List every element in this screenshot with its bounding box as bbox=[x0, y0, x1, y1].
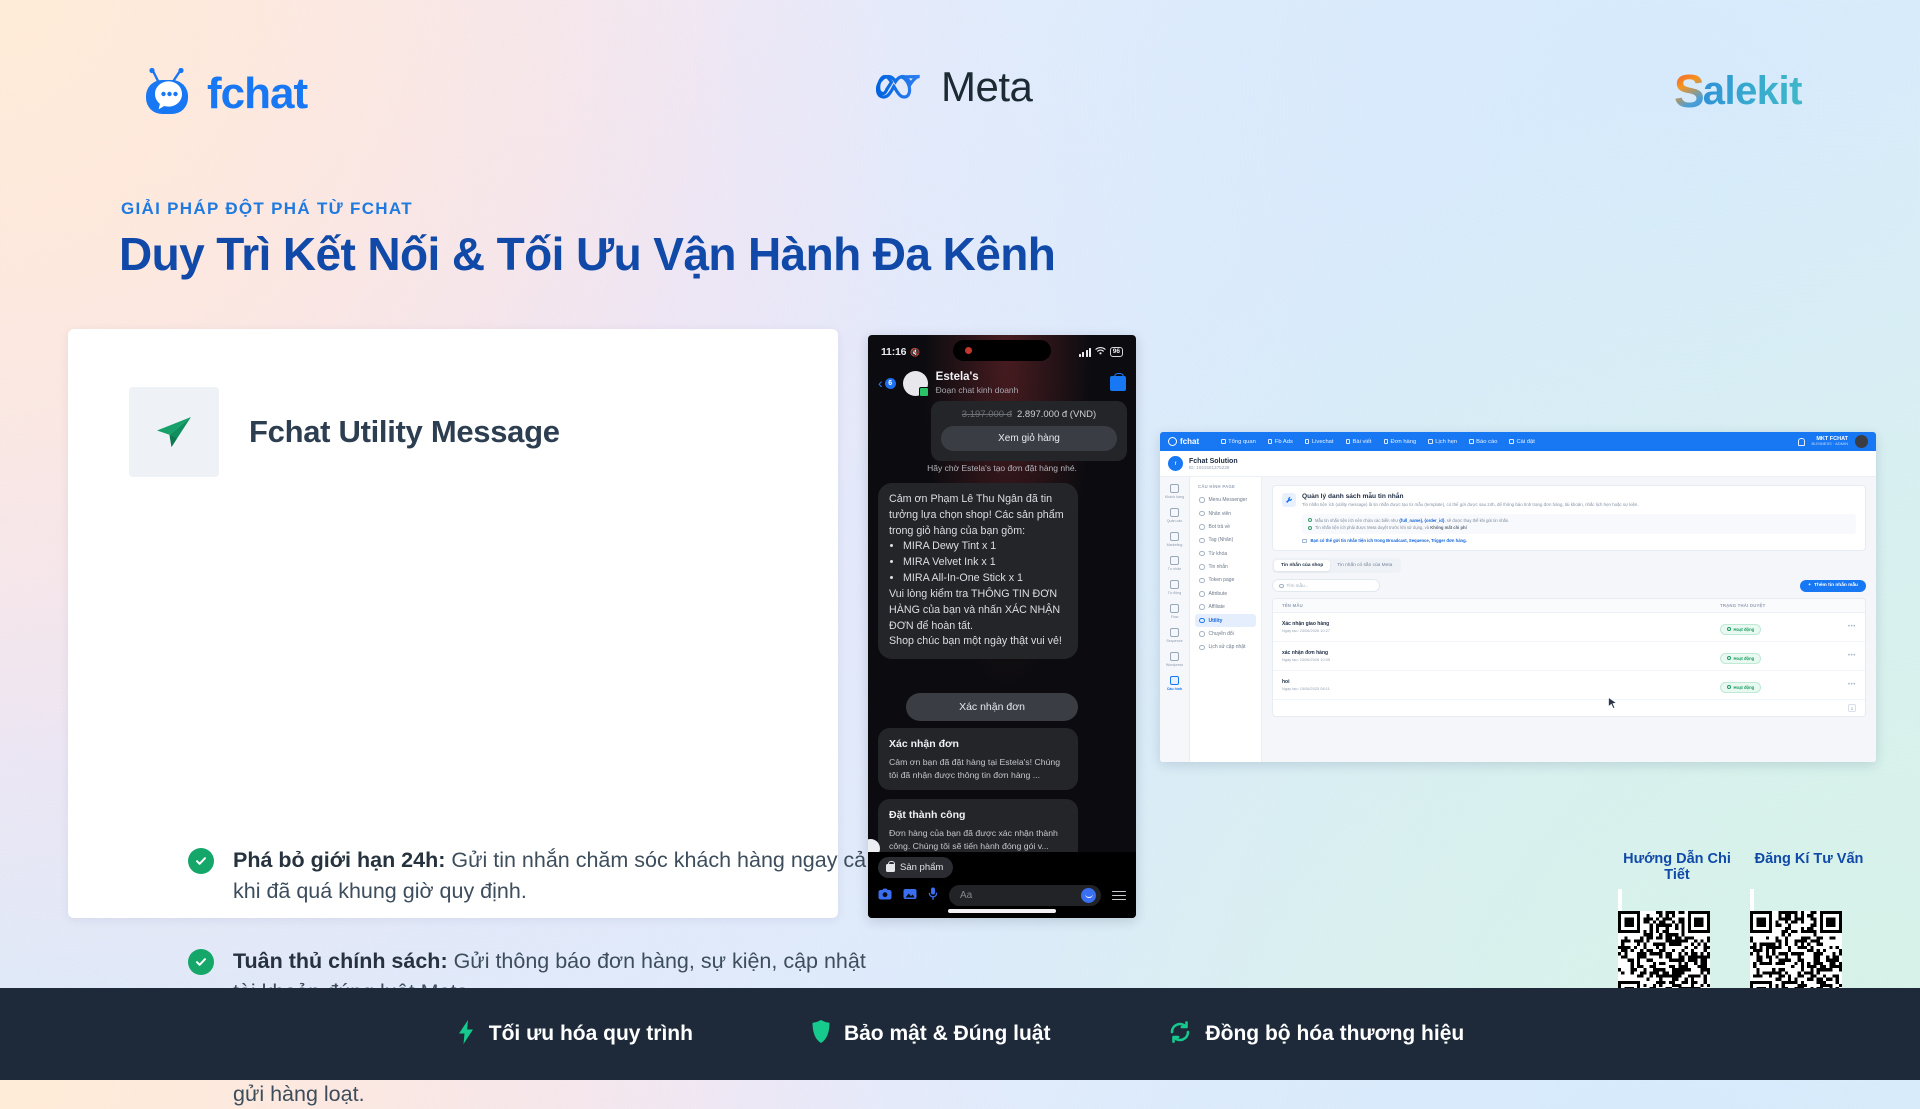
table-row[interactable]: hoi Ngày tạo: 15/06/2025 08:11 Hoạt động… bbox=[1273, 671, 1865, 700]
nav-item-tong-quan[interactable]: Tổng quan bbox=[1221, 439, 1256, 445]
page-avatar: f bbox=[1168, 456, 1183, 471]
phone-mockup: 11:16 🔇 96 ‹ 6 Estela's Đoạn chat kinh d… bbox=[868, 335, 1136, 918]
input-placeholder: Aa bbox=[960, 890, 972, 901]
nav-item-livechat[interactable]: Livechat bbox=[1305, 439, 1334, 445]
sidebar-item-bot-tra-ve[interactable]: Bot trả về bbox=[1195, 521, 1256, 533]
template-cell: xác nhận đơn hàng Ngày tạo: 23/06/2026 1… bbox=[1282, 650, 1720, 662]
rail-item-quang-cao[interactable]: Quản cáo bbox=[1160, 508, 1189, 523]
wrench-icon bbox=[1282, 493, 1296, 507]
emoji-icon[interactable] bbox=[1081, 888, 1096, 903]
nav-item-bao-cao[interactable]: Báo cáo bbox=[1469, 439, 1497, 445]
row-menu-icon[interactable]: ••• bbox=[1830, 653, 1856, 659]
card-title: Fchat Utility Message bbox=[249, 414, 560, 450]
search-input[interactable]: Tìm mẫu... bbox=[1272, 579, 1380, 592]
cart-summary-card: 3.197.000 đ2.897.000 đ (VND) Xem giỏ hàn… bbox=[931, 401, 1127, 461]
fchat-robot-icon bbox=[1168, 437, 1177, 446]
sync-icon bbox=[1168, 1020, 1192, 1049]
account-info[interactable]: MKT FCHAT BUSINESS · ADMIN bbox=[1812, 436, 1848, 447]
note-emphasis: Không mất chi phí bbox=[1430, 525, 1467, 530]
gear-icon bbox=[1170, 676, 1179, 685]
footer-item-security: Bảo mật & Đúng luật bbox=[811, 1019, 1051, 1049]
feature-card: Fchat Utility Message Phá bỏ giới hạn 24… bbox=[68, 329, 838, 918]
qr-label-dang-ki: Đăng Kí Tư Vấn bbox=[1750, 851, 1868, 883]
check-circle-icon bbox=[188, 949, 214, 975]
app-top-nav: fchat Tổng quan Fb Ads Livechat Bài viết… bbox=[1160, 432, 1876, 451]
app-sidebar: CẤU HÌNH PAGE Menu Messenger Nhân viên B… bbox=[1190, 477, 1262, 762]
sidebar-item-lich-su-cap-nhat[interactable]: Lịch sử cập nhật bbox=[1195, 641, 1256, 653]
flow-icon bbox=[1170, 604, 1179, 613]
row-menu-icon[interactable]: ••• bbox=[1830, 682, 1856, 688]
note-approval: Tin nhắn tiện ích phải được Meta duyệt t… bbox=[1308, 525, 1850, 530]
meta-wordmark: Meta bbox=[941, 66, 1032, 108]
check-icon bbox=[1308, 526, 1312, 530]
nav-item-fb-ads[interactable]: Fb Ads bbox=[1268, 439, 1293, 445]
list-icon bbox=[1170, 628, 1179, 637]
column-header-ten-mau: TÊN MẪU bbox=[1282, 603, 1720, 608]
cart-price-current: 2.897.000 đ (VND) bbox=[1017, 409, 1096, 420]
search-placeholder: Tìm mẫu... bbox=[1287, 583, 1309, 588]
product-pill-button[interactable]: Sản phẩm bbox=[878, 857, 953, 878]
list-item: MIRA Dewy Tint x 1 bbox=[903, 539, 1067, 555]
app-account-area: MKT FCHAT BUSINESS · ADMIN bbox=[1798, 435, 1868, 448]
camera-dot-icon bbox=[965, 347, 972, 354]
meta-infinity-icon bbox=[876, 69, 928, 106]
footer-label: Đồng bộ hóa thương hiệu bbox=[1205, 1022, 1464, 1046]
menu-icon bbox=[1199, 497, 1205, 503]
panel-description: Tin nhắn tiện ích (utility message) là t… bbox=[1302, 502, 1639, 509]
signal-icon bbox=[1079, 348, 1091, 357]
rail-item-wordpress[interactable]: Wordpress bbox=[1160, 652, 1189, 667]
status-cell: Hoạt động bbox=[1720, 676, 1830, 694]
info-icon bbox=[1308, 518, 1312, 522]
card-header: Fchat Utility Message bbox=[129, 387, 560, 477]
confirm-order-button[interactable]: Xác nhận đơn bbox=[906, 693, 1078, 721]
content-tabs: Tin nhắn của shop Tin nhắn có sẵn của Me… bbox=[1272, 558, 1401, 573]
robot-icon bbox=[1170, 580, 1179, 589]
app-body: Khách hàng Quản cáo Marketing Tư nhân Tự… bbox=[1160, 477, 1876, 762]
cart-price-old: 3.197.000 đ bbox=[962, 409, 1012, 420]
hero-kicker: GIẢI PHÁP ĐỘT PHÁ TỪ FCHAT bbox=[121, 199, 413, 219]
add-template-button[interactable]: + Thêm tin nhắn mẫu bbox=[1800, 580, 1866, 592]
footer-label: Bảo mật & Đúng luật bbox=[844, 1022, 1051, 1046]
lightning-icon bbox=[456, 1019, 476, 1050]
plus-icon: + bbox=[1808, 583, 1811, 588]
attribute-icon bbox=[1199, 591, 1205, 597]
sidebar-item-token-page[interactable]: Token page bbox=[1195, 574, 1256, 586]
list-item: Phá bỏ giới hạn 24h: Gửi tin nhắn chăm s… bbox=[188, 845, 888, 906]
salekit-wordmark: alekit bbox=[1703, 71, 1802, 111]
template-date: Ngày tạo: 23/06/2026 10:05 bbox=[1282, 657, 1720, 662]
back-icon[interactable]: ‹ bbox=[878, 376, 883, 390]
battery-level: 96 bbox=[1110, 347, 1123, 357]
sidebar-item-affiliate[interactable]: Affiliate bbox=[1195, 601, 1256, 613]
footer-item-optimize: Tối ưu hóa quy trình bbox=[456, 1019, 693, 1050]
fchat-logo: fchat bbox=[142, 68, 307, 120]
megaphone-icon bbox=[1170, 508, 1179, 517]
rail-item-khach-hang[interactable]: Khách hàng bbox=[1160, 484, 1189, 499]
info-panel: Quản lý danh sách mẫu tin nhắn Tin nhắn … bbox=[1272, 485, 1866, 551]
nav-item-don-hang[interactable]: Đơn hàng bbox=[1384, 439, 1417, 445]
page-id: ID: 1041501375239 bbox=[1189, 465, 1238, 470]
app-icon-rail: Khách hàng Quản cáo Marketing Tư nhân Tự… bbox=[1160, 477, 1190, 762]
card-title: Xác nhận đơn bbox=[889, 737, 1067, 752]
qr-labels: Hướng Dẫn Chi Tiết Đăng Kí Tư Vấn bbox=[1618, 851, 1868, 883]
cart-price: 3.197.000 đ2.897.000 đ (VND) bbox=[941, 409, 1117, 420]
bullet-lead: Tuân thủ chính sách: bbox=[233, 949, 448, 973]
sidebar-item-tag[interactable]: Tag (Nhãn) bbox=[1195, 534, 1256, 546]
sidebar-header: CẤU HÌNH PAGE bbox=[1195, 484, 1256, 489]
table-controls: Tìm mẫu... + Thêm tin nhắn mẫu bbox=[1272, 579, 1866, 592]
nav-item-cai-dat[interactable]: Cài đặt bbox=[1509, 439, 1534, 445]
mouse-cursor-icon bbox=[1608, 697, 1617, 710]
phone-composer: Sản phẩm Aa bbox=[868, 852, 1136, 918]
bag-icon bbox=[886, 864, 895, 872]
sidebar-item-nhan-vien[interactable]: Nhân viên bbox=[1195, 507, 1256, 519]
template-date: Ngày tạo: 15/06/2025 08:11 bbox=[1282, 686, 1720, 691]
pagination: 1 bbox=[1273, 700, 1865, 716]
message-outro-1: Vui lòng kiểm tra THÔNG TIN ĐƠN HÀNG của… bbox=[889, 588, 1060, 632]
menu-icon[interactable] bbox=[1112, 891, 1126, 901]
checkbox-icon[interactable] bbox=[1302, 539, 1307, 544]
checkbox-hint[interactable]: Bạn có thể gửi tin nhắn tiện ích trong B… bbox=[1302, 538, 1856, 543]
view-cart-button[interactable]: Xem giỏ hàng bbox=[941, 426, 1117, 451]
contact-subtitle: Đoạn chat kinh doanh bbox=[936, 385, 1019, 395]
chat-card-order-success: Đặt thành công Đơn hàng của bạn đã được … bbox=[878, 799, 1078, 852]
template-name: xác nhận đơn hàng bbox=[1282, 650, 1720, 656]
phone-conversation-header: ‹ 6 Estela's Đoạn chat kinh doanh bbox=[868, 365, 1136, 401]
status-badge: Hoạt động bbox=[1720, 653, 1761, 664]
panel-header: Quản lý danh sách mẫu tin nhắn Tin nhắn … bbox=[1282, 493, 1856, 509]
users-icon bbox=[1170, 484, 1179, 493]
sidebar-item-tu-khoa[interactable]: Từ khóa bbox=[1195, 548, 1256, 560]
desktop-app-mockup: fchat Tổng quan Fb Ads Livechat Bài viết… bbox=[1160, 432, 1876, 762]
list-item: MIRA Velvet Ink x 1 bbox=[903, 555, 1067, 571]
shield-icon bbox=[811, 1019, 831, 1049]
rail-item-tu-dong[interactable]: Tự động bbox=[1160, 580, 1189, 595]
template-name: Xác nhận giao hàng bbox=[1282, 621, 1720, 627]
fchat-robot-icon bbox=[142, 68, 196, 120]
tab-tin-nhan-cua-shop[interactable]: Tin nhắn của shop bbox=[1274, 560, 1330, 571]
chat-bubble-order-details: Cảm ơn Phạm Lê Thu Ngân đã tin tưởng lựa… bbox=[878, 483, 1078, 659]
bullet-text: Phá bỏ giới hạn 24h: Gửi tin nhắn chăm s… bbox=[233, 845, 881, 906]
sidebar-item-attribute[interactable]: Attribute bbox=[1195, 588, 1256, 600]
footer-item-sync: Đồng bộ hóa thương hiệu bbox=[1168, 1020, 1464, 1049]
rail-item-cau-hinh[interactable]: Cấu hình bbox=[1160, 676, 1189, 691]
message-item-list: MIRA Dewy Tint x 1 MIRA Velvet Ink x 1 M… bbox=[903, 539, 1067, 586]
column-header-trang-thai: TRẠNG THÁI DUYỆT bbox=[1720, 603, 1830, 608]
app-main-content: Quản lý danh sách mẫu tin nhắn Tin nhắn … bbox=[1262, 477, 1876, 762]
avatar[interactable] bbox=[1855, 435, 1868, 448]
page-button[interactable]: 1 bbox=[1848, 704, 1856, 712]
convert-icon bbox=[1199, 631, 1205, 637]
page-info: Fchat Solution ID: 1041501375239 bbox=[1189, 458, 1238, 470]
paper-plane-icon bbox=[129, 387, 219, 477]
phone-notch bbox=[953, 340, 1051, 361]
mute-icon: 🔇 bbox=[910, 348, 920, 357]
home-indicator bbox=[948, 909, 1056, 913]
rail-item-flow[interactable]: Flow bbox=[1160, 604, 1189, 619]
contact-info: Estela's Đoạn chat kinh doanh bbox=[936, 371, 1019, 395]
salekit-s-mark: S bbox=[1674, 68, 1705, 114]
panel-text: Quản lý danh sách mẫu tin nhắn Tin nhắn … bbox=[1302, 493, 1639, 509]
card-body: Cảm ơn bạn đã đặt hàng tại Estela's! Chú… bbox=[889, 756, 1067, 781]
variable-tokens: {full_name}, {order_id} bbox=[1399, 518, 1444, 523]
nav-item-bai-viet[interactable]: Bài viết bbox=[1346, 439, 1372, 445]
message-icon bbox=[1170, 556, 1179, 565]
panel-title: Quản lý danh sách mẫu tin nhắn bbox=[1302, 493, 1639, 500]
template-name: hoi bbox=[1282, 679, 1720, 685]
shopping-bag-icon[interactable] bbox=[1110, 376, 1126, 391]
footer-label: Tối ưu hóa quy trình bbox=[489, 1022, 693, 1046]
wifi-icon bbox=[1095, 346, 1106, 358]
templates-table: TÊN MẪU TRẠNG THÁI DUYỆT Xác nhận giao h… bbox=[1272, 598, 1866, 717]
user-icon bbox=[1199, 511, 1205, 517]
salekit-logo: S alekit bbox=[1674, 68, 1802, 114]
status-cell: Hoạt động bbox=[1720, 618, 1830, 636]
app-logo: fchat bbox=[1168, 437, 1199, 446]
phone-chat-body[interactable]: 3.197.000 đ2.897.000 đ (VND) Xem giỏ hàn… bbox=[868, 401, 1136, 852]
contact-name: Estela's bbox=[936, 371, 1019, 385]
bell-icon[interactable] bbox=[1798, 438, 1805, 446]
message-outro-2: Shop chúc bạn một ngày thật vui vẻ! bbox=[889, 635, 1062, 647]
note-text: Mẫu tin nhắn tiện ích nên chứa các biến … bbox=[1315, 518, 1509, 523]
checkbox-label: Bạn có thể gửi tin nhắn tiện ích trong B… bbox=[1311, 538, 1467, 543]
column-header-actions bbox=[1830, 603, 1856, 608]
template-date: Ngày tạo: 23/06/2026 10:27 bbox=[1282, 628, 1720, 633]
page-title: Duy Trì Kết Nối & Tối Ưu Vận Hành Đa Kên… bbox=[119, 227, 1055, 281]
meta-logo: Meta bbox=[876, 66, 1032, 108]
card-title: Đặt thành công bbox=[889, 808, 1067, 823]
wordpress-icon bbox=[1170, 652, 1179, 661]
sidebar-item-chuyen-doi[interactable]: Chuyển đổi bbox=[1195, 628, 1256, 640]
table-row[interactable]: Xác nhận giao hàng Ngày tạo: 23/06/2026 … bbox=[1273, 613, 1865, 642]
avatar[interactable] bbox=[903, 371, 928, 396]
tab-tin-nhan-meta[interactable]: Tin nhắn có sẵn của Meta bbox=[1330, 560, 1399, 571]
tag-icon bbox=[1199, 538, 1205, 544]
message-input[interactable]: Aa bbox=[949, 885, 1101, 906]
sidebar-item-menu-messenger[interactable]: Menu Messenger bbox=[1195, 494, 1256, 506]
composer-tools: Aa bbox=[878, 885, 1126, 906]
account-role: BUSINESS · ADMIN bbox=[1812, 442, 1848, 447]
token-icon bbox=[1199, 578, 1205, 584]
rail-item-sequence[interactable]: Sequence bbox=[1160, 628, 1189, 643]
table-row[interactable]: xác nhận đơn hàng Ngày tạo: 23/06/2026 1… bbox=[1273, 642, 1865, 671]
message-icon bbox=[1199, 564, 1205, 570]
rail-item-tu-nhan[interactable]: Tư nhân bbox=[1160, 556, 1189, 571]
unread-badge: 6 bbox=[885, 378, 896, 389]
status-badge: Hoạt động bbox=[1720, 624, 1761, 635]
status-badge: Hoạt động bbox=[1720, 682, 1761, 693]
app-brand-label: fchat bbox=[1180, 437, 1199, 446]
sidebar-item-utility[interactable]: Utility bbox=[1195, 614, 1256, 626]
status-indicators: 96 bbox=[1079, 346, 1123, 358]
template-cell: Xác nhận giao hàng Ngày tạo: 23/06/2026 … bbox=[1282, 621, 1720, 633]
affiliate-icon bbox=[1199, 604, 1205, 610]
logo-header: fchat Meta S alekit bbox=[0, 0, 1920, 160]
note-variables: Mẫu tin nhắn tiện ích nên chứa các biến … bbox=[1308, 518, 1850, 523]
wrench-icon bbox=[1199, 618, 1205, 624]
nav-item-lich-hen[interactable]: Lịch hẹn bbox=[1428, 439, 1457, 445]
message-intro: Cảm ơn Phạm Lê Thu Ngân đã tin tưởng lựa… bbox=[889, 493, 1064, 537]
row-menu-icon[interactable]: ••• bbox=[1830, 624, 1856, 630]
fchat-wordmark: fchat bbox=[207, 72, 307, 116]
template-cell: hoi Ngày tạo: 15/06/2025 08:11 bbox=[1282, 679, 1720, 691]
key-icon bbox=[1199, 551, 1205, 557]
search-icon bbox=[1279, 584, 1284, 589]
chat-card-order-confirmed: Xác nhận đơn Cảm ơn bạn đã đặt hàng tại … bbox=[878, 728, 1078, 790]
microphone-icon[interactable] bbox=[928, 887, 938, 905]
camera-icon[interactable] bbox=[878, 887, 892, 905]
rail-item-marketing[interactable]: Marketing bbox=[1160, 532, 1189, 547]
note-text: Tin nhắn tiện ích phải được Meta duyệt t… bbox=[1315, 525, 1467, 530]
system-note: Hãy chờ Estela's tạo đơn đặt hàng nhé. bbox=[868, 463, 1136, 473]
gallery-icon[interactable] bbox=[903, 887, 917, 905]
panel-notes: Mẫu tin nhắn tiện ích nên chứa các biến … bbox=[1302, 514, 1856, 535]
history-icon bbox=[1199, 645, 1205, 651]
status-time: 11:16 bbox=[881, 346, 906, 358]
list-item: MIRA All-In-One Stick x 1 bbox=[903, 571, 1067, 587]
card-body: Đơn hàng của bạn đã được xác nhận thành … bbox=[889, 827, 1067, 852]
app-nav-items: Tổng quan Fb Ads Livechat Bài viết Đơn h… bbox=[1221, 439, 1535, 445]
bot-icon bbox=[1199, 524, 1205, 530]
add-template-label: Thêm tin nhắn mẫu bbox=[1814, 583, 1858, 588]
table-header-row: TÊN MẪU TRẠNG THÁI DUYỆT bbox=[1273, 599, 1865, 613]
sidebar-item-tin-nhan[interactable]: Tin nhắn bbox=[1195, 561, 1256, 573]
chat-icon bbox=[1170, 532, 1179, 541]
app-page-selector[interactable]: f Fchat Solution ID: 1041501375239 bbox=[1160, 451, 1876, 477]
check-circle-icon bbox=[188, 848, 214, 874]
footer-bar: Tối ưu hóa quy trình Bảo mật & Đúng luật… bbox=[0, 988, 1920, 1080]
status-cell: Hoạt động bbox=[1720, 647, 1830, 665]
bullet-lead: Phá bỏ giới hạn 24h: bbox=[233, 848, 445, 872]
qr-label-huong-dan: Hướng Dẫn Chi Tiết bbox=[1618, 851, 1736, 883]
product-pill-label: Sản phẩm bbox=[900, 862, 943, 873]
page-name: Fchat Solution bbox=[1189, 458, 1238, 465]
